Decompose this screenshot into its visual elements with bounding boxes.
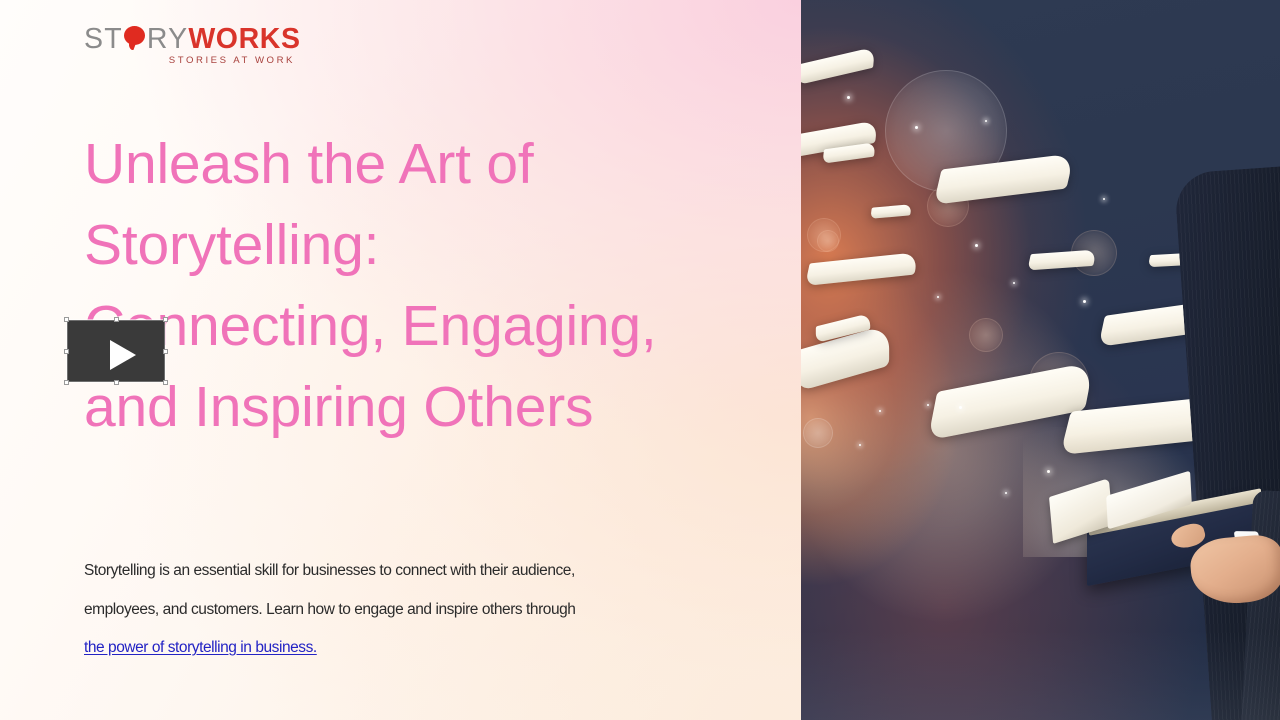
floor-reflection xyxy=(801,630,1280,720)
sparkle xyxy=(1083,300,1086,303)
sparkle xyxy=(937,296,939,298)
bokeh-circle xyxy=(817,230,839,252)
page-title: Unleash the Art of Storytelling: Connect… xyxy=(84,124,744,448)
bokeh-circle xyxy=(969,318,1003,352)
body-paragraph-line-2: employees, and customers. Learn how to e… xyxy=(84,591,744,630)
left-content-panel: ST RY WORKS STORIES AT WORK Unleash the … xyxy=(0,0,801,720)
book-artwork-image xyxy=(801,0,1280,720)
sparkle xyxy=(975,244,978,247)
selection-handle-middle-right[interactable] xyxy=(163,349,168,354)
flying-page xyxy=(805,252,919,286)
logo-text-st: ST xyxy=(84,24,123,54)
selection-handle-bottom-center[interactable] xyxy=(114,380,119,385)
sparkle xyxy=(985,120,987,122)
selection-handle-top-left[interactable] xyxy=(64,317,69,322)
sparkle xyxy=(879,410,881,412)
logo-text-works: WORKS xyxy=(188,24,300,54)
storytelling-link[interactable]: the power of storytelling in business. xyxy=(84,629,744,668)
selection-handle-bottom-left[interactable] xyxy=(64,380,69,385)
sparkle xyxy=(1013,282,1015,284)
video-play-button[interactable] xyxy=(64,317,168,385)
sparkle xyxy=(915,126,918,129)
bokeh-circle xyxy=(803,418,833,448)
sparkle xyxy=(859,444,861,446)
sparkle xyxy=(959,406,962,409)
sparkle xyxy=(1047,470,1050,473)
sparkle xyxy=(927,404,929,406)
speech-bubble-icon xyxy=(124,26,145,47)
selection-handle-top-center[interactable] xyxy=(114,317,119,322)
sparkle xyxy=(1103,198,1105,200)
sparkle xyxy=(1005,492,1007,494)
logo-tagline: STORIES AT WORK xyxy=(169,55,295,66)
body-copy: Storytelling is an essential skill for b… xyxy=(84,552,744,668)
logo-wordmark: ST RY WORKS xyxy=(84,24,301,54)
selection-handle-middle-left[interactable] xyxy=(64,349,69,354)
video-frame[interactable] xyxy=(67,320,165,382)
sparkle xyxy=(847,96,850,99)
open-book xyxy=(1051,485,1266,580)
play-icon[interactable] xyxy=(110,340,136,370)
flying-page xyxy=(870,204,911,219)
speech-bubble-tail xyxy=(128,39,137,50)
storyworks-logo[interactable]: ST RY WORKS STORIES AT WORK xyxy=(84,24,296,68)
logo-text-ry: RY xyxy=(147,24,188,54)
selection-handle-top-right[interactable] xyxy=(163,317,168,322)
body-paragraph-line-1: Storytelling is an essential skill for b… xyxy=(84,552,744,591)
slide-canvas: ST RY WORKS STORIES AT WORK Unleash the … xyxy=(0,0,1280,720)
flying-page xyxy=(801,47,875,85)
selection-handle-bottom-right[interactable] xyxy=(163,380,168,385)
